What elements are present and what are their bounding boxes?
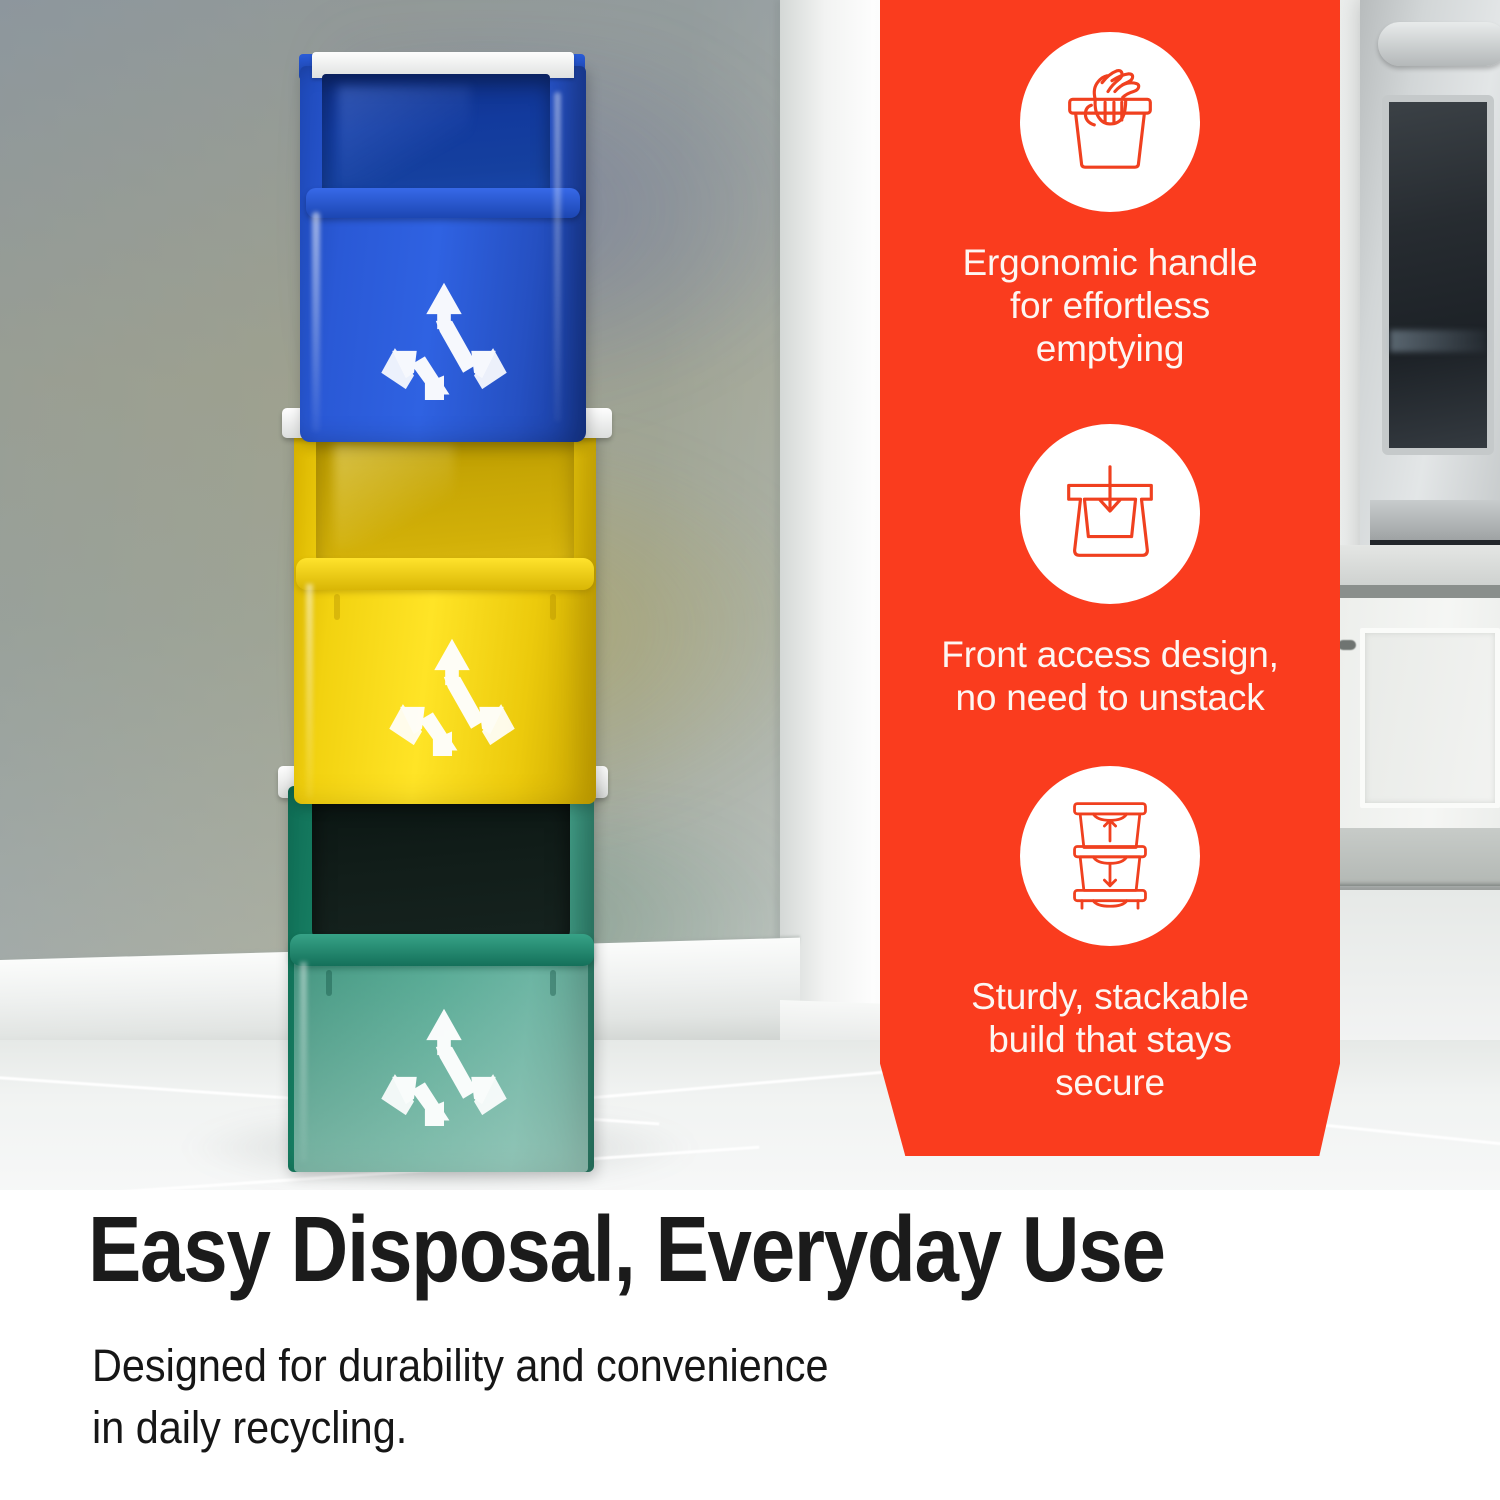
- feature-item-ergonomic-handle: Ergonomic handle for effortless emptying: [880, 32, 1340, 371]
- oven-window-glint: [1390, 330, 1486, 352]
- recycle-symbol: [374, 1006, 514, 1126]
- cabinet-gap: [1330, 585, 1500, 599]
- bin-highlight: [306, 584, 313, 798]
- recycle-symbol: [382, 636, 522, 756]
- oven-bottom-panel: [1370, 500, 1500, 540]
- stacked-bins-arrows-icon: [1054, 798, 1166, 915]
- bin-notch: [326, 970, 332, 996]
- oven-handle: [1378, 22, 1500, 66]
- page-headline: Easy Disposal, Everyday Use: [88, 1203, 1165, 1296]
- feature-label: Ergonomic handle for effortless emptying: [962, 242, 1257, 371]
- feature-icon-circle: [1020, 32, 1200, 212]
- recycle-symbol: [374, 280, 514, 400]
- feature-item-stackable: Sturdy, stackable build that stays secur…: [880, 766, 1340, 1105]
- bin-front-opening: [312, 792, 570, 946]
- feature-item-front-access: Front access design, no need to unstack: [880, 424, 1340, 720]
- cabinet-door-panel: [1360, 628, 1500, 808]
- bin-front-access-arrow-icon: [1051, 453, 1169, 576]
- product-infographic: Ergonomic handle for effortless emptying…: [0, 0, 1500, 1500]
- feature-label: Sturdy, stackable build that stays secur…: [971, 976, 1249, 1105]
- recycling-bin-green: [278, 766, 608, 1176]
- bin-handle: [306, 188, 580, 218]
- oven-window: [1382, 95, 1494, 455]
- bin-notch: [550, 594, 556, 620]
- cabinet-knob: [1338, 640, 1356, 650]
- bin-opening-glint: [338, 86, 470, 184]
- feature-panel: Ergonomic handle for effortless emptying…: [880, 0, 1340, 1156]
- feature-label: Front access design, no need to unstack: [941, 634, 1278, 720]
- bin-notch: [334, 594, 340, 620]
- recycling-bin-yellow: [282, 408, 612, 808]
- feature-icon-circle: [1020, 424, 1200, 604]
- bin-highlight: [312, 212, 320, 432]
- page-subheadline: Designed for durability and convenience …: [92, 1335, 828, 1459]
- recycling-bin-blue: [282, 52, 600, 442]
- cabinet-top-rail: [1330, 545, 1500, 585]
- bin-highlight: [554, 92, 561, 422]
- bin-highlight: [300, 962, 307, 1162]
- bin-notch: [550, 970, 556, 996]
- feature-icon-circle: [1020, 766, 1200, 946]
- bin-handle: [296, 558, 594, 590]
- bin-opening-glint: [334, 444, 454, 548]
- bin-handle: [290, 934, 594, 966]
- hand-lifting-bin-icon: [1051, 61, 1169, 184]
- cabinet-toekick: [1325, 828, 1500, 886]
